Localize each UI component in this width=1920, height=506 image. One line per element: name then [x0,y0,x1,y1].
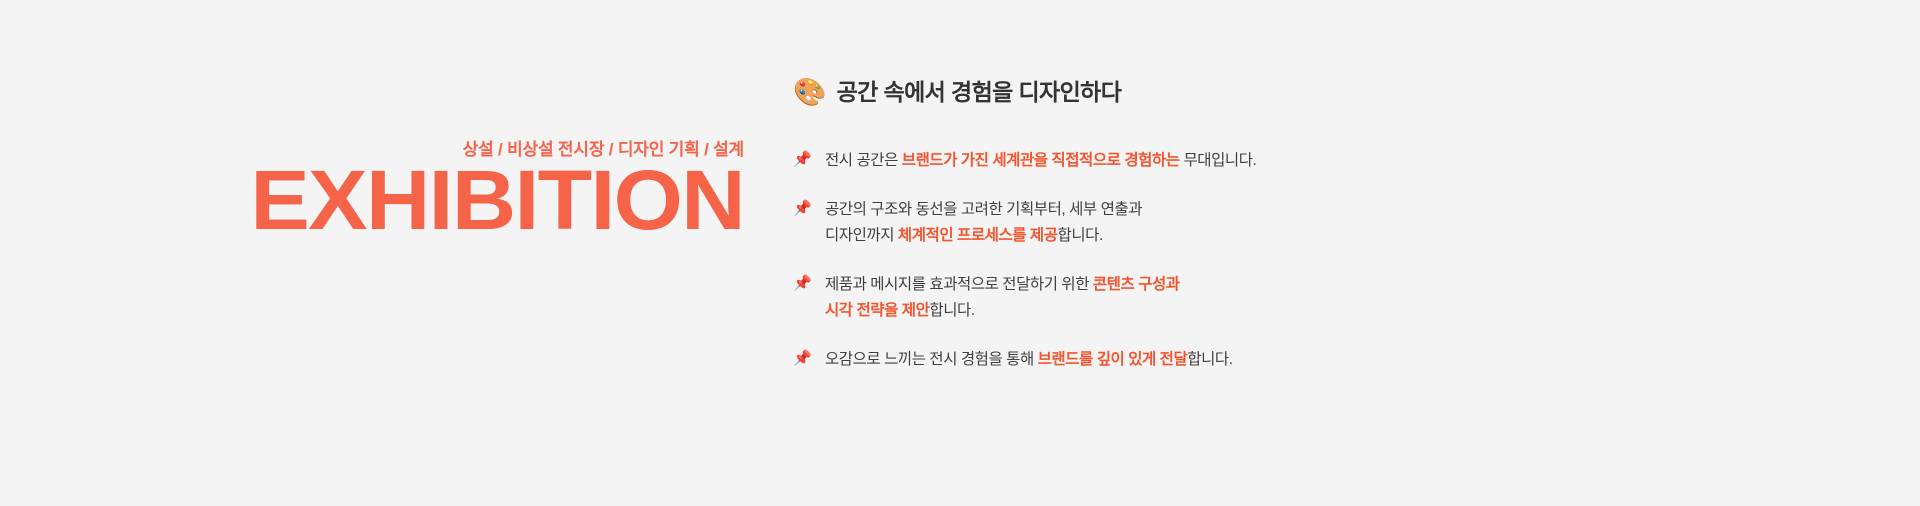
bullet-highlight-text: 브랜드를 깊이 있게 전달 [1038,351,1188,368]
bullet-highlight-text: 브랜드가 가진 세계관을 직접적으로 경험하는 [902,152,1180,169]
artist-palette-icon: 🎨 [793,79,827,106]
bullet-plain-text: 공간의 구조와 동선을 고려한 기획부터, 세부 연출과 [825,201,1142,218]
bullet-plain-text: 합니다. [1058,227,1103,244]
pushpin-icon: 📌 [793,272,811,295]
feature-bullet-item: 📌전시 공간은 브랜드가 가진 세계관을 직접적으로 경험하는 무대입니다. [793,148,1693,174]
feature-bullet-item: 📌오감으로 느끼는 전시 경험을 통해 브랜드를 깊이 있게 전달합니다. [793,347,1693,373]
bullet-plain-text: 오감으로 느끼는 전시 경험을 통해 [825,351,1038,368]
pushpin-icon: 📌 [793,148,811,171]
feature-bullet-list: 📌전시 공간은 브랜드가 가진 세계관을 직접적으로 경험하는 무대입니다.📌공… [793,148,1693,373]
copy-heading-label: 공간 속에서 경험을 디자인하다 [837,78,1122,108]
pushpin-icon: 📌 [793,197,811,220]
feature-bullet-item: 📌공간의 구조와 동선을 고려한 기획부터, 세부 연출과디자인까지 체계적인 … [793,197,1693,249]
feature-bullet-text: 제품과 메시지를 효과적으로 전달하기 위한 콘텐츠 구성과시각 전략을 제안합… [825,272,1180,324]
feature-bullet-text: 전시 공간은 브랜드가 가진 세계관을 직접적으로 경험하는 무대입니다. [825,148,1256,174]
copy-block: 🎨 공간 속에서 경험을 디자인하다 📌전시 공간은 브랜드가 가진 세계관을 … [793,78,1693,373]
copy-heading: 🎨 공간 속에서 경험을 디자인하다 [793,78,1693,108]
exhibition-section: 상설 / 비상설 전시장 / 디자인 기획 / 설계 EXHIBITION 🎨 … [0,0,1920,506]
bullet-plain-text: 합니다. [929,302,974,319]
bullet-highlight-text: 시각 전략을 제안 [825,302,929,319]
page-title: EXHIBITION [0,162,744,239]
bullet-plain-text: 전시 공간은 [825,152,902,169]
feature-bullet-text: 오감으로 느끼는 전시 경험을 통해 브랜드를 깊이 있게 전달합니다. [825,347,1233,373]
bullet-plain-text: 제품과 메시지를 효과적으로 전달하기 위한 [825,276,1093,293]
feature-bullet-item: 📌제품과 메시지를 효과적으로 전달하기 위한 콘텐츠 구성과시각 전략을 제안… [793,272,1693,324]
title-block: 상설 / 비상설 전시장 / 디자인 기획 / 설계 EXHIBITION [0,140,744,240]
bullet-highlight-text: 콘텐츠 구성과 [1093,276,1180,293]
bullet-plain-text: 무대입니다. [1180,152,1257,169]
bullet-highlight-text: 체계적인 프로세스를 제공 [898,227,1058,244]
pushpin-icon: 📌 [793,347,811,370]
bullet-plain-text: 합니다. [1187,351,1232,368]
bullet-plain-text: 디자인까지 [825,227,898,244]
feature-bullet-text: 공간의 구조와 동선을 고려한 기획부터, 세부 연출과디자인까지 체계적인 프… [825,197,1142,249]
